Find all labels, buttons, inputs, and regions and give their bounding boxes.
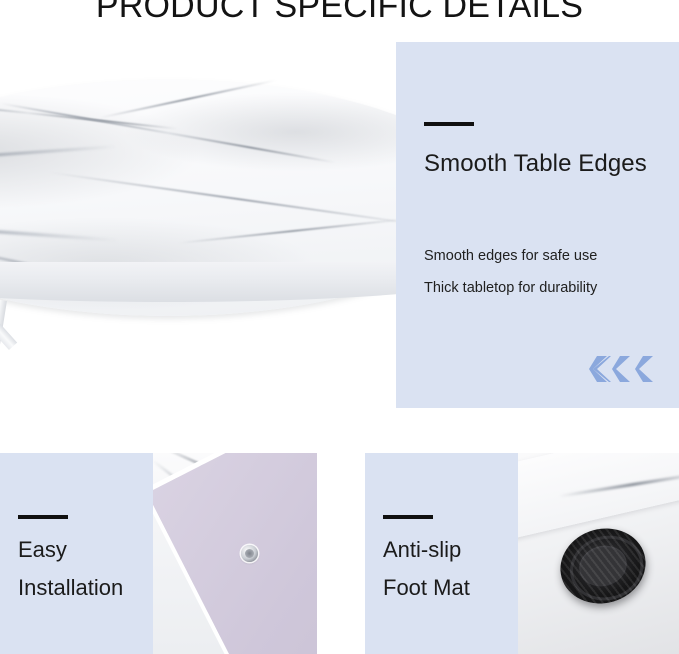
divider-rule: [18, 515, 68, 519]
chevron-left-icon: [612, 354, 634, 384]
card-heading-line-1: Easy: [18, 537, 67, 563]
card-text-area: Anti-slip Foot Mat: [365, 453, 518, 654]
divider-rule: [424, 122, 474, 126]
feature-panel-smooth-edges: Smooth Table Edges Smooth edges for safe…: [396, 42, 679, 408]
marble-vein: [100, 79, 276, 118]
marble-vein: [0, 96, 177, 129]
marble-vein: [50, 172, 400, 227]
feature-card-anti-slip-foot-mat: Anti-slip Foot Mat: [365, 453, 679, 654]
rubber-foot-mat-photo: [518, 453, 679, 654]
tabletop-edge: [0, 262, 400, 302]
table-underside-photo: [153, 453, 317, 654]
marble-vein: [179, 218, 400, 244]
chevron-left-icon: [635, 354, 657, 384]
chevrons-left-icon: [589, 354, 657, 384]
card-heading-line-2: Foot Mat: [383, 575, 470, 601]
chevron-left-icon: [589, 354, 611, 384]
feature-card-easy-installation: Easy Installation: [0, 453, 317, 654]
page-title: PRODUCT SPECIFIC DETAILS: [0, 0, 679, 26]
table-leg: [0, 299, 7, 408]
screw-fastener-icon: [241, 545, 258, 562]
card-heading-line-1: Anti-slip: [383, 537, 461, 563]
installation-detail-image: [153, 453, 317, 654]
marble-vein: [0, 145, 118, 166]
hero-marble-table-image: [0, 42, 400, 408]
feature-heading: Smooth Table Edges: [424, 150, 647, 178]
marble-vein: [0, 221, 118, 241]
marble-vein: [0, 102, 335, 163]
marble-surface: [518, 453, 679, 539]
feature-bullet: Smooth edges for safe use: [424, 248, 597, 264]
divider-rule: [383, 515, 433, 519]
foot-mat-detail-image: [518, 453, 679, 654]
feature-bullet: Thick tabletop for durability: [424, 280, 597, 296]
lavender-panel: [153, 453, 317, 654]
product-detail-page: PRODUCT SPECIFIC DETAILS Smooth Table Ed…: [0, 0, 679, 654]
card-heading-line-2: Installation: [18, 575, 123, 601]
rubber-pad: [551, 519, 654, 614]
card-text-area: Easy Installation: [0, 453, 153, 654]
